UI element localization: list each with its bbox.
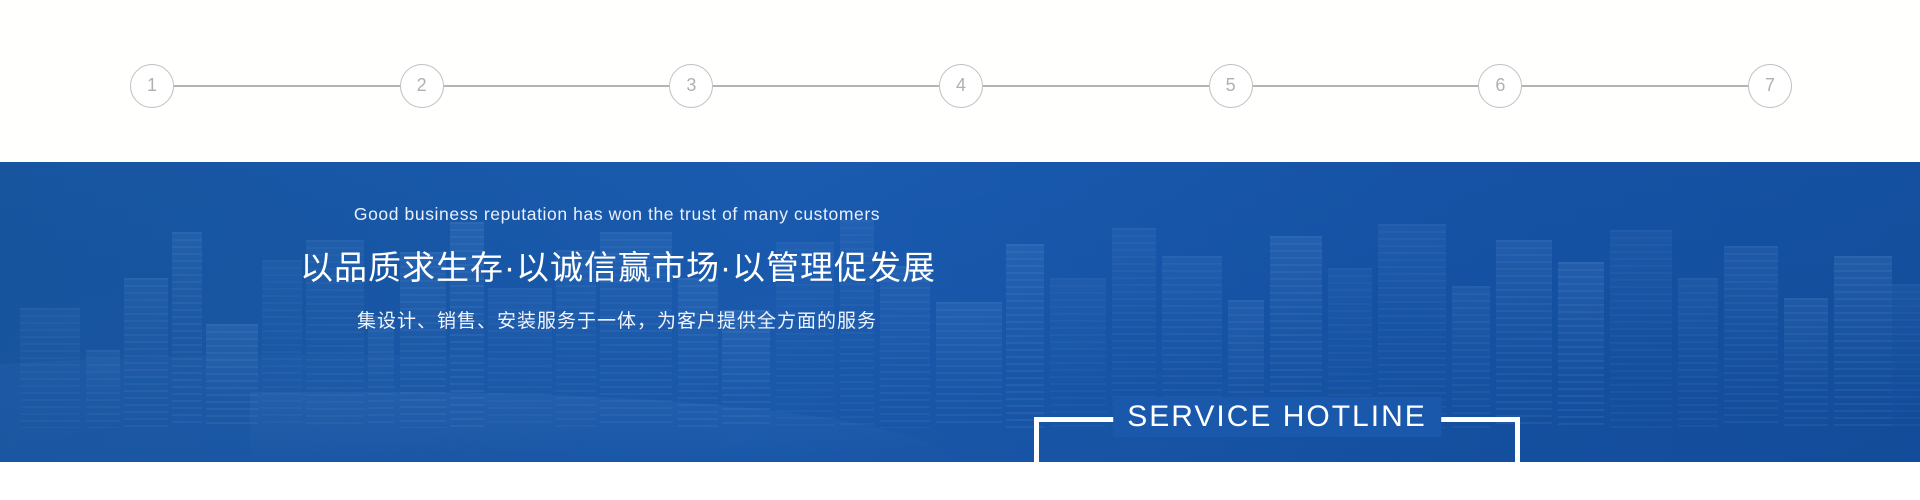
step-connector-line bbox=[713, 85, 939, 87]
step-node-5[interactable]: 5 bbox=[1209, 64, 1253, 108]
building-shape bbox=[936, 302, 1002, 428]
building-shape bbox=[262, 260, 302, 428]
promo-banner: Good business reputation has won the tru… bbox=[0, 162, 1920, 462]
cityscape-silhouette-icon bbox=[0, 232, 1920, 462]
building-shape bbox=[1724, 246, 1778, 428]
banner-page: 1234567 Good business reputation has won… bbox=[0, 0, 1920, 500]
step-connector-line bbox=[1522, 85, 1748, 87]
slogan-chinese-main: 以品质求生存·以诚信赢市场·以管理促发展 bbox=[300, 241, 934, 289]
step-connector-line bbox=[174, 85, 400, 87]
step-node-6[interactable]: 6 bbox=[1478, 64, 1522, 108]
step-node-label: 6 bbox=[1495, 76, 1505, 94]
building-shape bbox=[86, 350, 120, 428]
step-node-label: 2 bbox=[417, 76, 427, 94]
slogan-english: Good business reputation has won the tru… bbox=[300, 204, 934, 225]
building-shape bbox=[1784, 298, 1828, 428]
step-connector-line bbox=[983, 85, 1209, 87]
slogan-chinese-sub: 集设计、销售、安装服务于一体，为客户提供全方面的服务 bbox=[300, 306, 934, 333]
building-shape bbox=[1892, 284, 1920, 428]
building-shape bbox=[124, 278, 168, 428]
building-shape bbox=[1678, 278, 1718, 428]
hotline-box: SERVICE HOTLINE 服务热线： 183-2660-0068 0551… bbox=[1034, 417, 1520, 462]
slogan-block: Good business reputation has won the tru… bbox=[300, 204, 934, 333]
step-node-4[interactable]: 4 bbox=[939, 64, 983, 108]
building-shape bbox=[1610, 230, 1672, 428]
building-shape bbox=[1452, 286, 1490, 428]
step-node-3[interactable]: 3 bbox=[669, 64, 713, 108]
step-node-2[interactable]: 2 bbox=[400, 64, 444, 108]
step-connector-line bbox=[444, 85, 670, 87]
building-shape bbox=[172, 232, 202, 428]
building-shape bbox=[1496, 240, 1552, 428]
building-shape bbox=[206, 324, 258, 428]
step-node-label: 1 bbox=[147, 76, 157, 94]
hotline-label: 服务热线： bbox=[1082, 457, 1210, 462]
building-shape bbox=[1050, 278, 1106, 428]
step-node-7[interactable]: 7 bbox=[1748, 64, 1792, 108]
building-shape bbox=[1558, 262, 1604, 428]
hotline-number-primary[interactable]: 183-2660-0068 bbox=[1218, 460, 1414, 462]
stepper-strip: 1234567 bbox=[0, 0, 1920, 162]
building-shape bbox=[1834, 256, 1892, 428]
hotline-row-primary: 服务热线： 183-2660-0068 bbox=[1034, 457, 1520, 462]
hotline-title: SERVICE HOTLINE bbox=[1113, 397, 1441, 437]
hotline-rows: 服务热线： 183-2660-0068 0551-63749777 bbox=[1034, 457, 1520, 462]
building-shape bbox=[1006, 244, 1044, 428]
step-node-label: 7 bbox=[1765, 76, 1775, 94]
step-node-1[interactable]: 1 bbox=[130, 64, 174, 108]
step-node-label: 3 bbox=[686, 76, 696, 94]
building-shape bbox=[20, 308, 80, 428]
step-connector-line bbox=[1253, 85, 1479, 87]
step-node-label: 5 bbox=[1226, 76, 1236, 94]
step-node-label: 4 bbox=[956, 76, 966, 94]
